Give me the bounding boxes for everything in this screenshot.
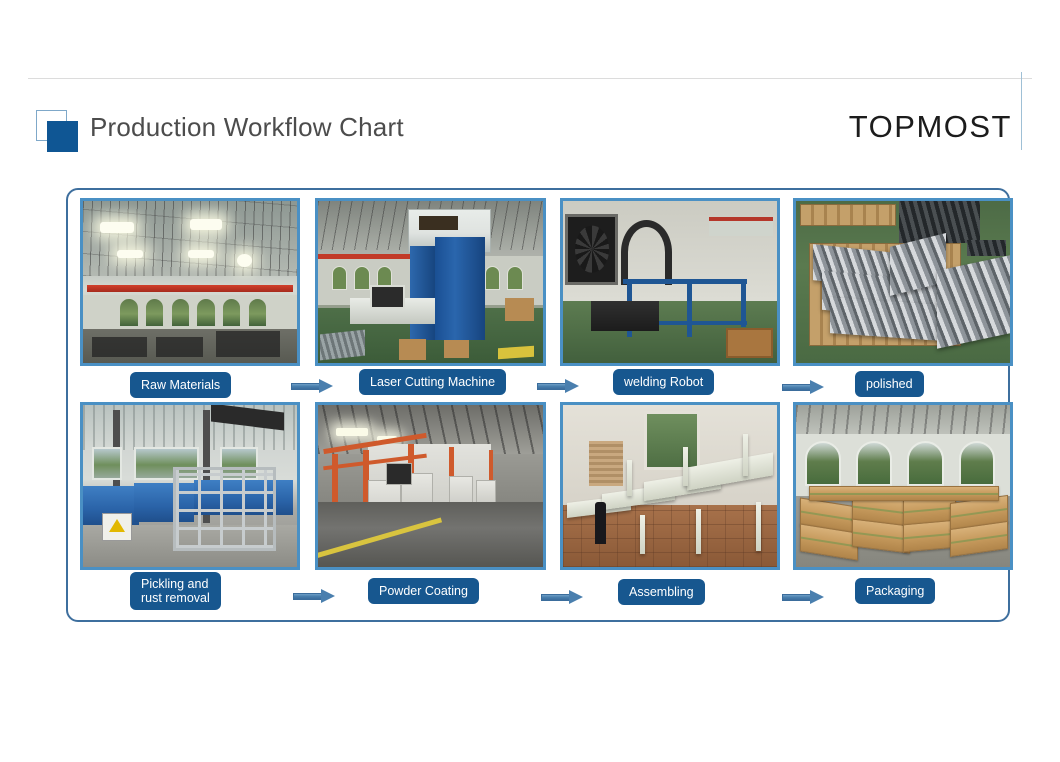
step-label-8[interactable]: Packaging	[855, 578, 935, 604]
workflow-panel: Raw Materials	[66, 188, 1010, 622]
photo-packaging-cartons-warehouse	[793, 402, 1013, 570]
photo-factory-hall-interior	[80, 198, 300, 366]
brand-part-m: M	[916, 111, 943, 142]
photo-pickling-rust-removal-tanks	[80, 402, 300, 570]
workflow-step-6[interactable]: Powder Coating	[315, 402, 546, 607]
photo-polished-metal-parts	[793, 198, 1013, 366]
photo-laser-cutting-machine	[315, 198, 546, 366]
step-label-5[interactable]: Pickling and rust removal	[130, 572, 221, 610]
header-top-divider	[28, 78, 1032, 79]
page-title: Production Workflow Chart	[90, 112, 404, 143]
step-label-3[interactable]: welding Robot	[613, 369, 714, 395]
workflow-step-3[interactable]: welding Robot	[560, 198, 780, 403]
step-label-2[interactable]: Laser Cutting Machine	[359, 369, 506, 395]
brand-part-top: TOP	[849, 109, 917, 144]
brand-vertical-divider	[1021, 72, 1022, 150]
step-label-6[interactable]: Powder Coating	[368, 578, 479, 604]
brand-part-ost: OST	[944, 109, 1012, 144]
step-label-4[interactable]: polished	[855, 371, 924, 397]
photo-welding-robot-station	[560, 198, 780, 366]
photo-powder-coating-line	[315, 402, 546, 570]
brand-text: TOPMOST	[849, 111, 1012, 142]
brand-logo: TOPMOST	[849, 108, 1012, 144]
squares-logo-icon	[36, 110, 78, 152]
workflow-step-5[interactable]: Pickling and rust removal	[80, 402, 300, 607]
workflow-step-1[interactable]: Raw Materials	[80, 198, 300, 403]
logo-solid-square	[47, 121, 78, 152]
workflow-step-4[interactable]: polished	[793, 198, 1013, 403]
workflow-row-1: Raw Materials	[68, 198, 1012, 403]
workflow-step-7[interactable]: Assembling	[560, 402, 780, 607]
step-label-7[interactable]: Assembling	[618, 579, 705, 605]
workflow-step-2[interactable]: Laser Cutting Machine	[315, 198, 546, 403]
step-label-1[interactable]: Raw Materials	[130, 372, 231, 398]
page-header: Production Workflow Chart TOPMOST	[0, 96, 1060, 170]
photo-assembling-workshop	[560, 402, 780, 570]
workflow-row-2: Pickling and rust removal	[68, 402, 1012, 607]
workflow-step-8[interactable]: Packaging	[793, 402, 1013, 607]
